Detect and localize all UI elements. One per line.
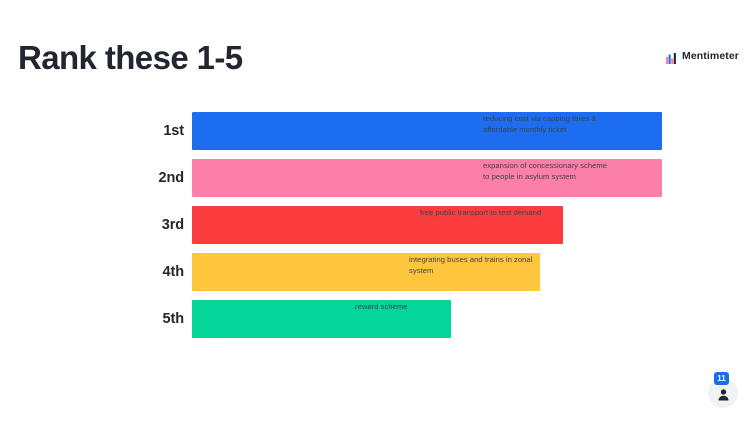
rank-label-3: 3rd [140,217,184,233]
person-icon [717,388,730,401]
mentimeter-bars-icon [666,51,677,62]
bar-caption-4: integrating buses and trains in zonal sy… [409,255,537,277]
rank-label-5: 5th [140,311,184,327]
bar-caption-2: expansion of concessionary scheme to peo… [483,161,611,183]
bar-caption-1: reducing cost via capping fares & afford… [483,114,611,136]
bar-caption-3: free public transport to test demand [420,208,548,219]
participant-counter[interactable]: 11 [708,378,738,408]
bar-row: 4th integrating buses and trains in zona… [0,253,752,300]
bar-caption-5: reward scheme [355,302,483,313]
mentimeter-branding: Mentimeter [666,50,739,62]
bar-row: 1st reducing cost via capping fares & af… [0,112,752,159]
bar-row: 5th reward scheme [0,300,752,347]
rank-label-1: 1st [140,123,184,139]
participant-count-badge: 11 [714,372,729,385]
mentimeter-wordmark: Mentimeter [682,50,739,62]
rank-label-2: 2nd [140,170,184,186]
slide: Rank these 1-5 Mentimeter 1st reducing c… [0,0,752,424]
page-title: Rank these 1-5 [18,40,243,76]
ranking-bar-chart: 1st reducing cost via capping fares & af… [0,112,752,347]
rank-label-4: 4th [140,264,184,280]
bar-row: 3rd free public transport to test demand [0,206,752,253]
bar-row: 2nd expansion of concessionary scheme to… [0,159,752,206]
